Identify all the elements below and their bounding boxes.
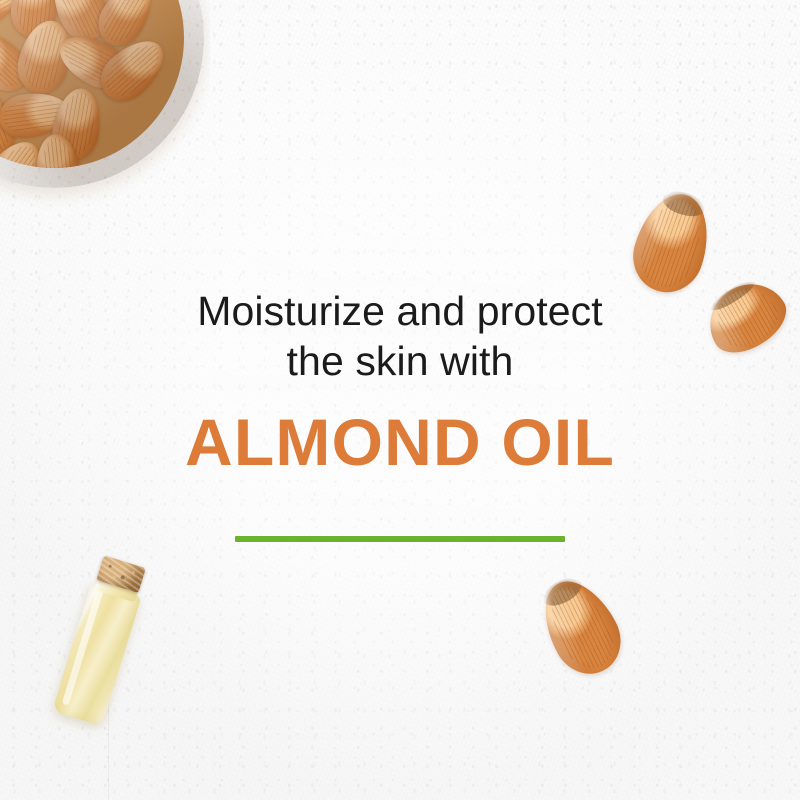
- wooden-bowl: [0, 0, 204, 188]
- headline-line-2: the skin with: [0, 336, 800, 386]
- poster-canvas: Moisturize and protect the skin with ALM…: [0, 0, 800, 800]
- brand-title: ALMOND OIL: [0, 406, 800, 478]
- bowl-almond: [91, 29, 175, 111]
- bowl-interior: [0, 0, 184, 168]
- green-divider-rule: [235, 536, 565, 542]
- headline-block: Moisturize and protect the skin with ALM…: [0, 286, 800, 478]
- vial-glass-body: [52, 581, 141, 726]
- bowl-of-almonds: [0, 0, 210, 212]
- headline-line-1: Moisturize and protect: [0, 286, 800, 336]
